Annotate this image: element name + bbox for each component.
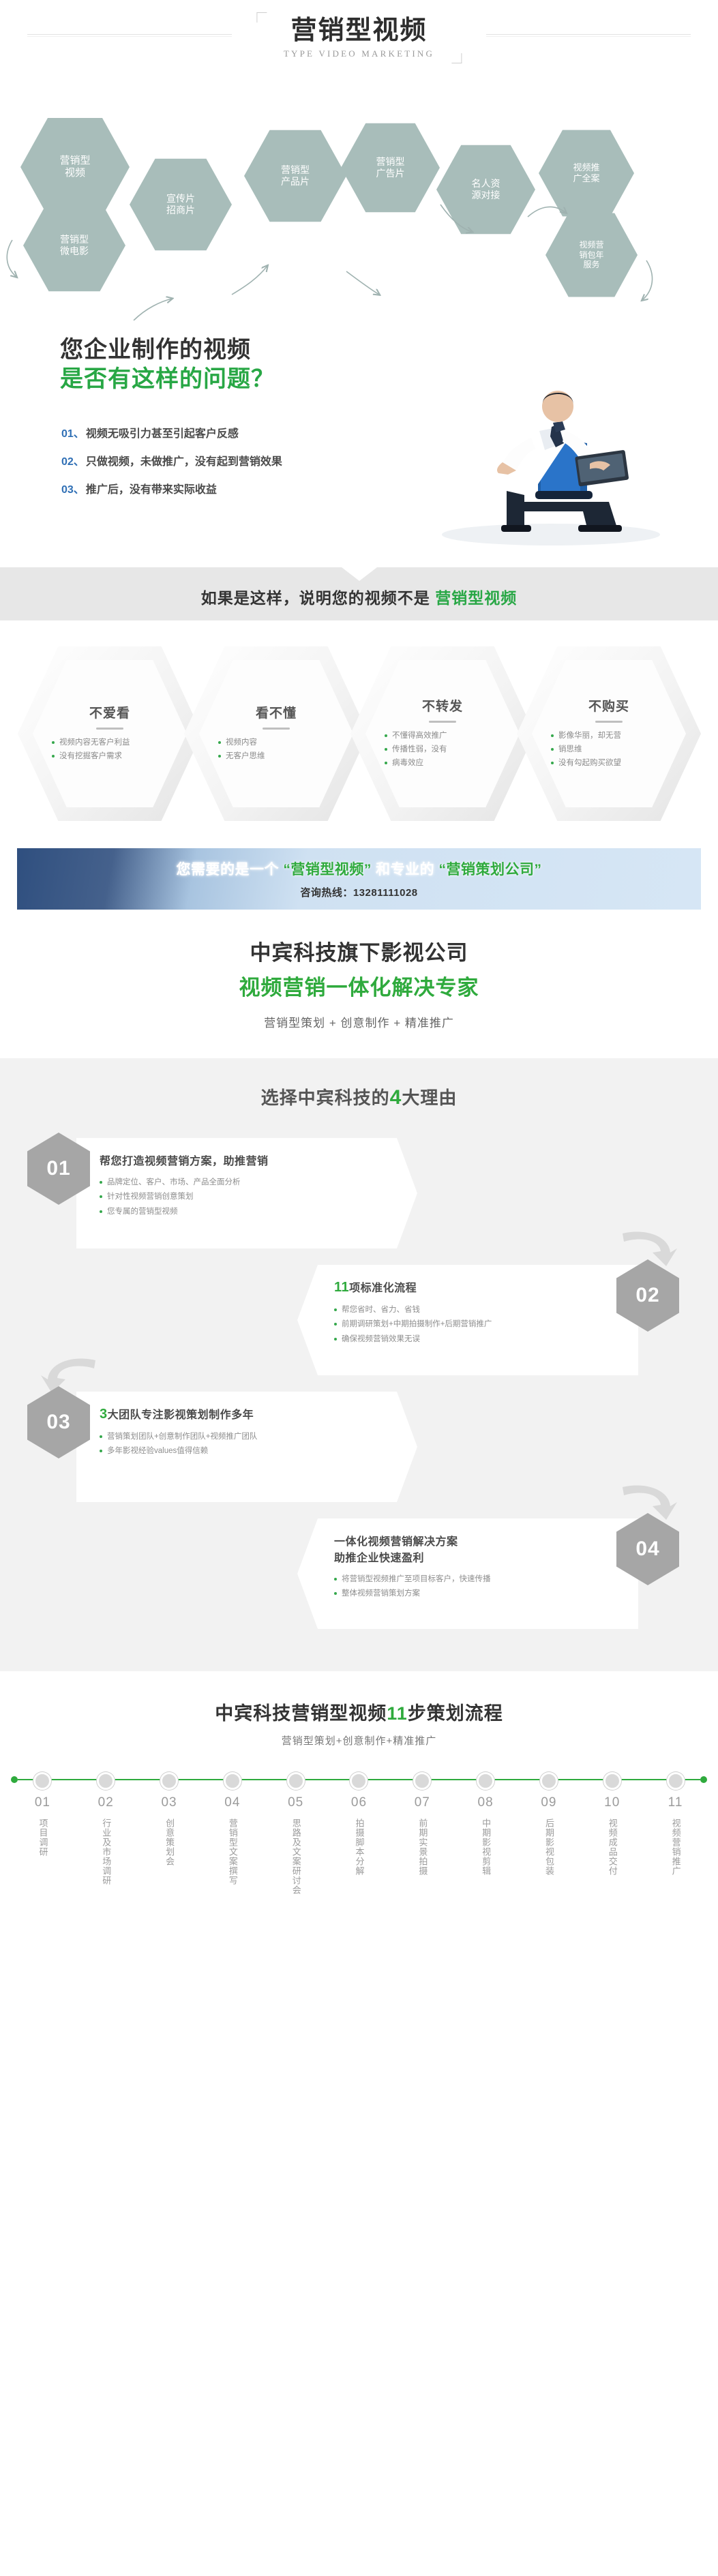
pain-point-bullet: 无客户思维 [218,751,334,763]
service-hexagon-label: 视频营销包年服务 [575,240,608,270]
reason-bullet: 将营销型视频推广至项目标客户，快速传播 [334,1572,607,1587]
reason-row: 11项标准化流程帮您省时、省力、省钱前期调研策划+中期拍摄制作+后期营销推广确保… [0,1259,718,1386]
reason-card-body: 3大团队专注影视策划制作多年营销策划团队+创意制作团队+视频推广团队多年影视经验… [100,1405,372,1459]
timeline-step-number: 11 [655,1795,697,1810]
timeline-step-label: 前期实景拍摄 [415,1818,429,1876]
service-hexagon-label: 营销型广告片 [372,156,409,179]
timeline-step[interactable]: 05思路及文案研讨会 [275,1795,317,1895]
pain-point-title: 不转发 [422,696,463,715]
timeline-dot [350,1772,368,1790]
timeline-dot [160,1772,178,1790]
problem-headline: 您企业制作的视频 是否有这样的问题？ [60,335,275,393]
service-hexagon-label: 宣传片招商片 [162,193,199,216]
reasons-heading-a: 选择中宾科技的 [261,1088,390,1108]
timeline-step-label: 行业及市场调研 [99,1818,113,1885]
service-hexagon[interactable]: 营销型产品片 [244,128,346,224]
pain-point-divider [429,721,456,723]
timeline-step-number: 05 [275,1795,317,1810]
service-hexagon[interactable]: 名人资源对接 [436,143,535,236]
timeline-step-number: 10 [591,1795,633,1810]
problem-section: 您企业制作的视频 是否有这样的问题？ 01、视频无吸引力甚至引起客户反感02、只… [0,320,718,552]
reason-bullet: 营销策划团队+创意制作团队+视频推广团队 [100,1430,372,1444]
reason-title-text: 项标准化流程 [349,1283,417,1294]
pain-point-hexagon[interactable]: 不爱看视频内容无客户利益没有挖掘客户需求 [18,646,202,821]
timeline-step[interactable]: 01项目调研 [21,1795,63,1895]
company-title-3: 营销型策划 + 创意制作 + 精准推广 [0,1013,718,1030]
grey-banner-prefix: 如果是这样，说明您的视频不是 [201,589,435,607]
timeline-step-row: 01项目调研02行业及市场调研03创意策划会04营销型文案撰写05思路及文案研讨… [0,1795,718,1895]
timeline-step[interactable]: 06拍摄脚本分解 [338,1795,380,1895]
reason-title-number: 11 [334,1280,349,1295]
timeline-dot [477,1772,494,1790]
timeline-step-label: 后期影视包装 [542,1818,556,1876]
company-title-2: 视频营销一体化解决专家 [0,970,718,1001]
timeline-dot [97,1772,115,1790]
timeline-step-label: 思路及文案研讨会 [289,1818,303,1895]
timeline-step-label: 创意策划会 [162,1818,176,1866]
page-subtitle: TYPE VIDEO MARKETING [284,48,434,59]
timeline-step-number: 06 [338,1795,380,1810]
service-hexagon-label: 营销型视频 [55,155,94,180]
cta-quote-2: “营销策划公司” [439,862,542,878]
pain-point-inner: 不购买影像华丽，却无营销思维没有勾起购买欲望 [532,660,686,807]
timeline-title-a: 中宾科技营销型视频 [215,1703,387,1724]
timeline-step[interactable]: 03创意策划会 [148,1795,190,1895]
timeline-step-number: 08 [464,1795,507,1810]
timeline-step-label: 营销型文案撰写 [226,1818,239,1885]
reason-title: 一体化视频营销解决方案助推企业快速盈利 [334,1532,607,1565]
service-hexagon[interactable]: 视频营销包年服务 [545,211,638,299]
banner-notch-icon [342,567,377,581]
reasons-heading-b: 大理由 [402,1088,457,1108]
timeline-step-label: 视频成品交付 [605,1818,619,1876]
service-hexagon[interactable]: 营销型广告片 [341,121,440,214]
reason-title: 11项标准化流程 [334,1278,607,1296]
header-rule-left [27,34,232,35]
reason-row: 帮您打造视频营销方案，助推营销品牌定位、客户、市场、产品全面分析针对性视频营销创… [0,1133,718,1259]
pain-point-inner: 看不懂视频内容无客户思维 [199,660,353,807]
reasons-heading: 选择中宾科技的4大理由 [0,1084,718,1109]
pain-point-title: 不购买 [588,696,629,715]
pain-point-bullet-list: 视频内容无客户思维 [218,737,334,764]
timeline-step-number: 04 [211,1795,254,1810]
timeline-dot [603,1772,621,1790]
service-hexagon[interactable]: 视频推广全案 [539,128,634,218]
pain-point-bullet-list: 影像华丽，却无营销思维没有勾起购买欲望 [551,730,667,770]
pain-point-divider [96,728,123,730]
timeline-step[interactable]: 08中期影视剪辑 [464,1795,507,1895]
reason-bullet: 多年影视经验values值得信赖 [100,1444,372,1458]
hex-cloud-container: 视频营销包年服务视频推广全案名人资源对接营销型广告片营销型产品片宣传片招商片营销… [0,95,718,320]
timeline-subtitle: 营销型策划+创意制作+精准推广 [0,1733,718,1748]
reason-title-number: 3 [100,1407,108,1422]
timeline-title-b: 步策划流程 [408,1703,503,1724]
pain-point-hex-row: 不爱看视频内容无客户利益没有挖掘客户需求看不懂视频内容无客户思维不转发不懂得高效… [0,634,718,839]
reason-title: 3大团队专注影视策划制作多年 [100,1405,372,1422]
timeline-step[interactable]: 11视频营销推广 [655,1795,697,1895]
company-title-1: 中宾科技旗下影视公司 [0,935,718,966]
reason-bullet: 针对性视频营销创意策划 [100,1190,372,1204]
reason-card-list: 帮您打造视频营销方案，助推营销品牌定位、客户、市场、产品全面分析针对性视频营销创… [0,1133,718,1640]
problem-list-item: 01、视频无吸引力甚至引起客户反感 [61,424,282,440]
pain-point-bullet: 病毒效应 [385,758,500,770]
cta-hotline[interactable]: 咨询热线：13281111028 [300,885,417,899]
pain-point-inner: 不爱看视频内容无客户利益没有挖掘客户需求 [33,660,187,807]
pain-point-bullet: 视频内容 [218,737,334,749]
timeline-step-label: 视频营销推广 [668,1818,682,1876]
service-hexagon[interactable]: 宣传片招商片 [130,157,232,252]
pain-point-bullet: 不懂得高效推广 [385,730,500,743]
header-title-block: 营销型视频 TYPE VIDEO MARKETING [256,12,462,63]
reason-bullet: 整体视频营销策划方案 [334,1587,607,1601]
timeline-title: 中宾科技营销型视频11步策划流程 [0,1698,718,1725]
timeline-dot [667,1772,685,1790]
page-header: 营销型视频 TYPE VIDEO MARKETING [0,0,718,95]
pain-point-bullet: 没有挖掘客户需求 [52,751,168,763]
service-hexagon-label: 营销型微电影 [56,234,93,257]
grey-banner: 如果是这样，说明您的视频不是 营销型视频 [0,567,718,620]
reason-card[interactable]: 11项标准化流程帮您省时、省力、省钱前期调研策划+中期拍摄制作+后期营销推广确保… [297,1265,638,1375]
company-section: 中宾科技旗下影视公司 视频营销一体化解决专家 营销型策划 + 创意制作 + 精准… [0,920,718,1058]
businessman-photo [404,323,691,548]
pain-point-hexagon[interactable]: 不转发不懂得高效推广传播性弱，没有病毒效应 [350,646,535,821]
timeline-step-label: 项目调研 [35,1818,49,1857]
pain-point-bullet: 视频内容无客户利益 [52,737,168,749]
grey-banner-section: 如果是这样，说明您的视频不是 营销型视频 [0,552,718,634]
problem-item-number: 03、 [61,480,85,496]
reason-title-text: 大团队专注影视策划制作多年 [108,1409,254,1421]
reason-card[interactable]: 3大团队专注影视策划制作多年营销策划团队+创意制作团队+视频推广团队多年影视经验… [76,1392,417,1502]
timeline-track [0,1771,718,1788]
reason-card-body: 一体化视频营销解决方案助推企业快速盈利将营销型视频推广至项目标客户，快速传播整体… [334,1532,607,1602]
problem-list: 01、视频无吸引力甚至引起客户反感02、只做视频，未做推广，没有起到营销效果03… [61,424,282,508]
grey-banner-highlight: 营销型视频 [435,589,517,607]
cta-text-a: 您需要的是一个 [176,862,283,878]
reason-bullet-list: 营销策划团队+创意制作团队+视频推广团队多年影视经验values值得信赖 [100,1430,372,1459]
reason-card-body: 帮您打造视频营销方案，助推营销品牌定位、客户、市场、产品全面分析针对性视频营销创… [100,1152,372,1219]
timeline-step-number: 07 [401,1795,443,1810]
grey-banner-text: 如果是这样，说明您的视频不是 营销型视频 [201,585,517,608]
pain-point-bullet: 没有勾起购买欲望 [551,758,667,770]
pain-point-hexagon[interactable]: 不购买影像华丽，却无营销思维没有勾起购买欲望 [517,646,701,821]
timeline-step[interactable]: 02行业及市场调研 [85,1795,127,1895]
service-hex-cloud: 视频营销包年服务视频推广全案名人资源对接营销型广告片营销型产品片宣传片招商片营销… [0,95,718,320]
timeline-dot [224,1772,241,1790]
service-hexagon[interactable]: 营销型视频 [20,116,130,218]
timeline-title-number: 11 [387,1703,408,1724]
cta-banner: 您需要的是一个 “营销型视频” 和专业的 “营销策划公司” 咨询热线：13281… [17,848,701,910]
cta-line-1: 您需要的是一个 “营销型视频” 和专业的 “营销策划公司” [176,858,541,879]
timeline-dot [287,1772,305,1790]
reason-card[interactable]: 一体化视频营销解决方案助推企业快速盈利将营销型视频推广至项目标客户，快速传播整体… [297,1518,638,1629]
reason-row: 3大团队专注影视策划制作多年营销策划团队+创意制作团队+视频推广团队多年影视经验… [0,1386,718,1513]
reason-bullet: 帮您省时、省力、省钱 [334,1303,607,1317]
pain-point-divider [595,721,623,723]
pain-point-bullet: 销思维 [551,744,667,756]
service-hexagon-label: 视频推广全案 [569,162,603,184]
timeline-step-number: 03 [148,1795,190,1810]
problem-item-number: 02、 [61,452,85,468]
timeline-section: 中宾科技营销型视频11步策划流程 营销型策划+创意制作+精准推广 01项目调研0… [0,1671,718,1922]
timeline-step-number: 09 [528,1795,570,1810]
timeline-step-number: 02 [85,1795,127,1810]
problem-item-text: 只做视频，未做推广，没有起到营销效果 [86,452,282,468]
problem-headline-dark: 您企业制作的视频 [60,335,275,365]
pain-point-bullet-list: 视频内容无客户利益没有挖掘客户需求 [52,737,168,764]
service-hexagon-label: 营销型产品片 [277,164,314,188]
timeline-step[interactable]: 10视频成品交付 [591,1795,633,1895]
timeline-step-label: 拍摄脚本分解 [352,1818,365,1876]
problem-item-number: 01、 [61,424,85,440]
problem-item-text: 视频无吸引力甚至引起客户反感 [86,424,239,440]
reason-bullet-list: 帮您省时、省力、省钱前期调研策划+中期拍摄制作+后期营销推广确保视频营销效果无误 [334,1303,607,1347]
timeline-dot-row [0,1771,718,1790]
page-title: 营销型视频 [284,16,434,46]
reason-title-text: 帮您打造视频营销方案，助推营销 [100,1156,269,1167]
problem-item-text: 推广后，没有带来实际收益 [86,480,217,496]
timeline-dot [33,1772,51,1790]
reason-bullet: 确保视频营销效果无误 [334,1332,607,1347]
reason-bullet: 您专属的营销型视频 [100,1205,372,1219]
pain-point-hexagon[interactable]: 看不懂视频内容无客户思维 [184,646,368,821]
timeline-step-number: 01 [21,1795,63,1810]
reason-bullet: 品牌定位、客户、市场、产品全面分析 [100,1175,372,1190]
cta-quote-1: “营销型视频” [283,862,372,878]
landing-page: 营销型视频 TYPE VIDEO MARKETING 视频营销包年服务视频推广全… [0,0,718,1922]
reason-card-body: 11项标准化流程帮您省时、省力、省钱前期调研策划+中期拍摄制作+后期营销推广确保… [334,1278,607,1347]
pain-point-bullet: 传播性弱，没有 [385,744,500,756]
problem-headline-green: 是否有这样的问题？ [60,365,275,394]
pain-point-bullet: 影像华丽，却无营 [551,730,667,743]
timeline-step[interactable]: 04营销型文案撰写 [211,1795,254,1895]
reason-bullet-list: 品牌定位、客户、市场、产品全面分析针对性视频营销创意策划您专属的营销型视频 [100,1175,372,1219]
reason-title-text: 一体化视频营销解决方案助推企业快速盈利 [334,1536,458,1564]
timeline-step[interactable]: 07前期实景拍摄 [401,1795,443,1895]
problem-list-item: 03、推广后，没有带来实际收益 [61,480,282,496]
pain-point-inner: 不转发不懂得高效推广传播性弱，没有病毒效应 [365,660,520,807]
reason-title: 帮您打造视频营销方案，助推营销 [100,1152,372,1168]
pain-point-divider [263,728,290,730]
service-hexagon-label: 名人资源对接 [468,178,505,201]
reason-bullet: 前期调研策划+中期拍摄制作+后期营销推广 [334,1317,607,1332]
header-rule-right [486,34,691,35]
pain-point-bullet-list: 不懂得高效推广传播性弱，没有病毒效应 [385,730,500,770]
reason-bullet-list: 将营销型视频推广至项目标客户，快速传播整体视频营销策划方案 [334,1572,607,1602]
timeline-step[interactable]: 09后期影视包装 [528,1795,570,1895]
reasons-heading-number: 4 [390,1086,402,1109]
cta-section: 您需要的是一个 “营销型视频” 和专业的 “营销策划公司” 咨询热线：13281… [0,839,718,920]
reasons-section: 选择中宾科技的4大理由 帮您打造视频营销方案，助推营销品牌定位、客户、市场、产品… [0,1058,718,1671]
reason-row: 一体化视频营销解决方案助推企业快速盈利将营销型视频推广至项目标客户，快速传播整体… [0,1513,718,1640]
pain-point-title: 不爱看 [89,703,130,721]
cta-text-b: 和专业的 [372,862,439,878]
timeline-step-label: 中期影视剪辑 [479,1818,492,1876]
timeline-dot [413,1772,431,1790]
timeline-dot [540,1772,558,1790]
problem-list-item: 02、只做视频，未做推广，没有起到营销效果 [61,452,282,468]
pain-point-title: 看不懂 [256,703,297,721]
reason-card[interactable]: 帮您打造视频营销方案，助推营销品牌定位、客户、市场、产品全面分析针对性视频营销创… [76,1138,417,1248]
